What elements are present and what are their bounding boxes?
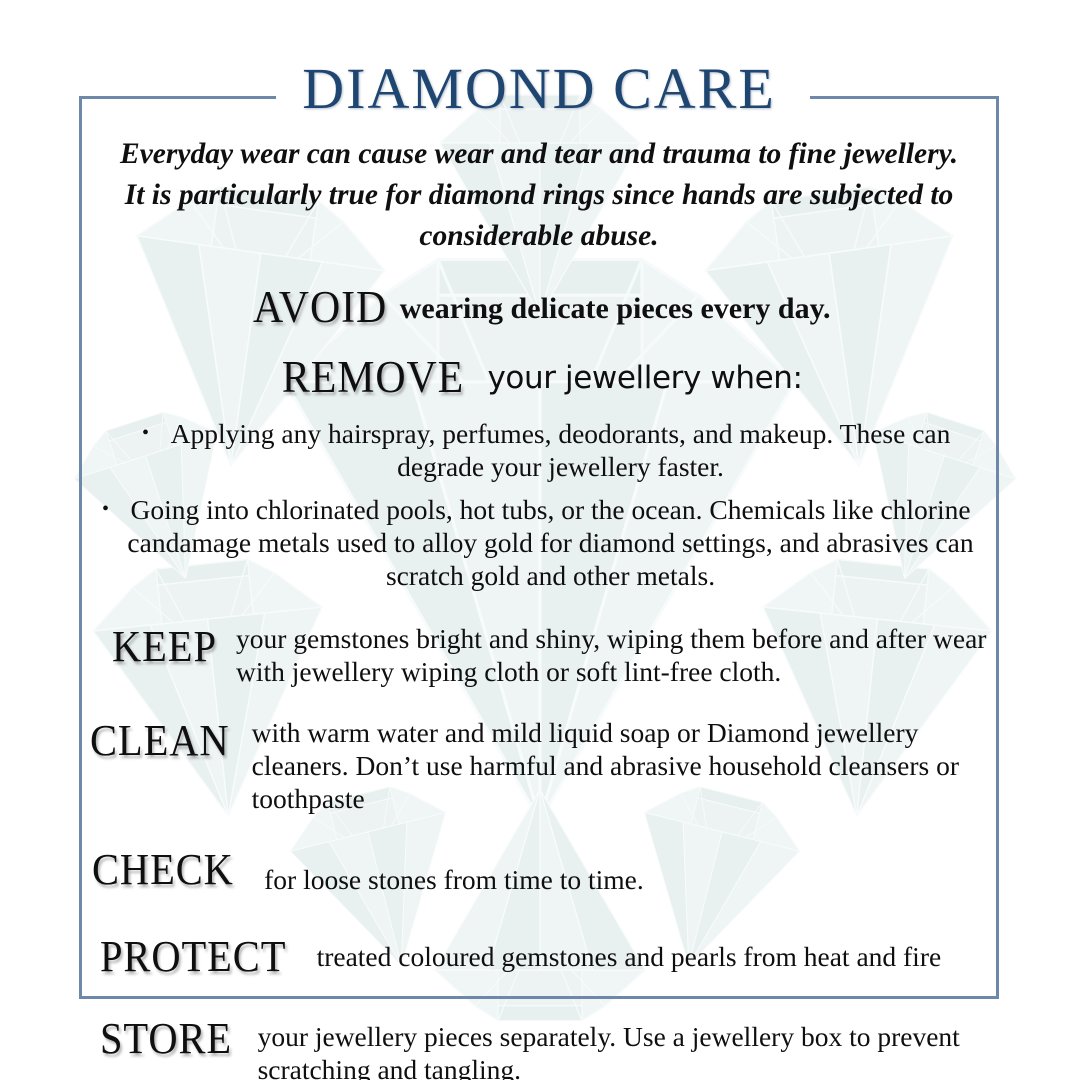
list-item: • Applying any hairspray, perfumes, deod… <box>82 417 996 483</box>
avoid-text: wearing delicate pieces every day. <box>392 292 831 325</box>
bullet-text: Applying any hairspray, perfumes, deodor… <box>155 417 966 483</box>
section-clean: CLEAN with warm water and mild liquid so… <box>82 716 996 815</box>
remove-text: your jewellery when: <box>471 360 802 396</box>
remove-bullet-list: • Applying any hairspray, perfumes, deod… <box>82 417 996 592</box>
diamond-care-poster: DIAMOND CARE Everyday wear can cause wea… <box>0 0 1080 1080</box>
section-protect: PROTECT treated coloured gemstones and p… <box>82 934 996 980</box>
page-title: DIAMOND CARE <box>82 58 996 120</box>
section-remove: REMOVEyour jewellery when: <box>82 351 996 403</box>
keyword-keep: KEEP <box>112 622 217 670</box>
keyword-check: CHECK <box>92 847 234 893</box>
frame-border-right <box>996 96 999 999</box>
keyword-remove: REMOVE <box>282 351 464 403</box>
section-check: CHECK for loose stones from time to time… <box>82 847 996 896</box>
section-avoid: AVOIDwearing delicate pieces every day. <box>82 281 996 333</box>
protect-text: treated coloured gemstones and pearls fr… <box>303 934 996 973</box>
keyword-avoid: AVOID <box>253 281 387 333</box>
keyword-store: STORE <box>100 1016 232 1062</box>
store-text: your jewellery pieces separately. Use a … <box>244 1016 996 1080</box>
section-store: STORE your jewellery pieces separately. … <box>82 1016 996 1080</box>
clean-text: with warm water and mild liquid soap or … <box>242 716 996 815</box>
check-text: for loose stones from time to time. <box>246 847 996 896</box>
keyword-clean: CLEAN <box>90 716 230 764</box>
list-item: • Going into chlorinated pools, hot tubs… <box>82 483 996 592</box>
section-keep: KEEP your gemstones bright and shiny, wi… <box>82 622 996 688</box>
keyword-protect: PROTECT <box>100 934 286 980</box>
keep-text: your gemstones bright and shiny, wiping … <box>226 622 996 688</box>
intro-paragraph: Everyday wear can cause wear and tear an… <box>114 134 964 257</box>
bullet-text: Going into chlorinated pools, hot tubs, … <box>115 493 986 592</box>
bullet-icon: • <box>102 493 115 526</box>
bullet-icon: • <box>142 417 155 450</box>
poster-content: DIAMOND CARE Everyday wear can cause wea… <box>82 58 996 1080</box>
